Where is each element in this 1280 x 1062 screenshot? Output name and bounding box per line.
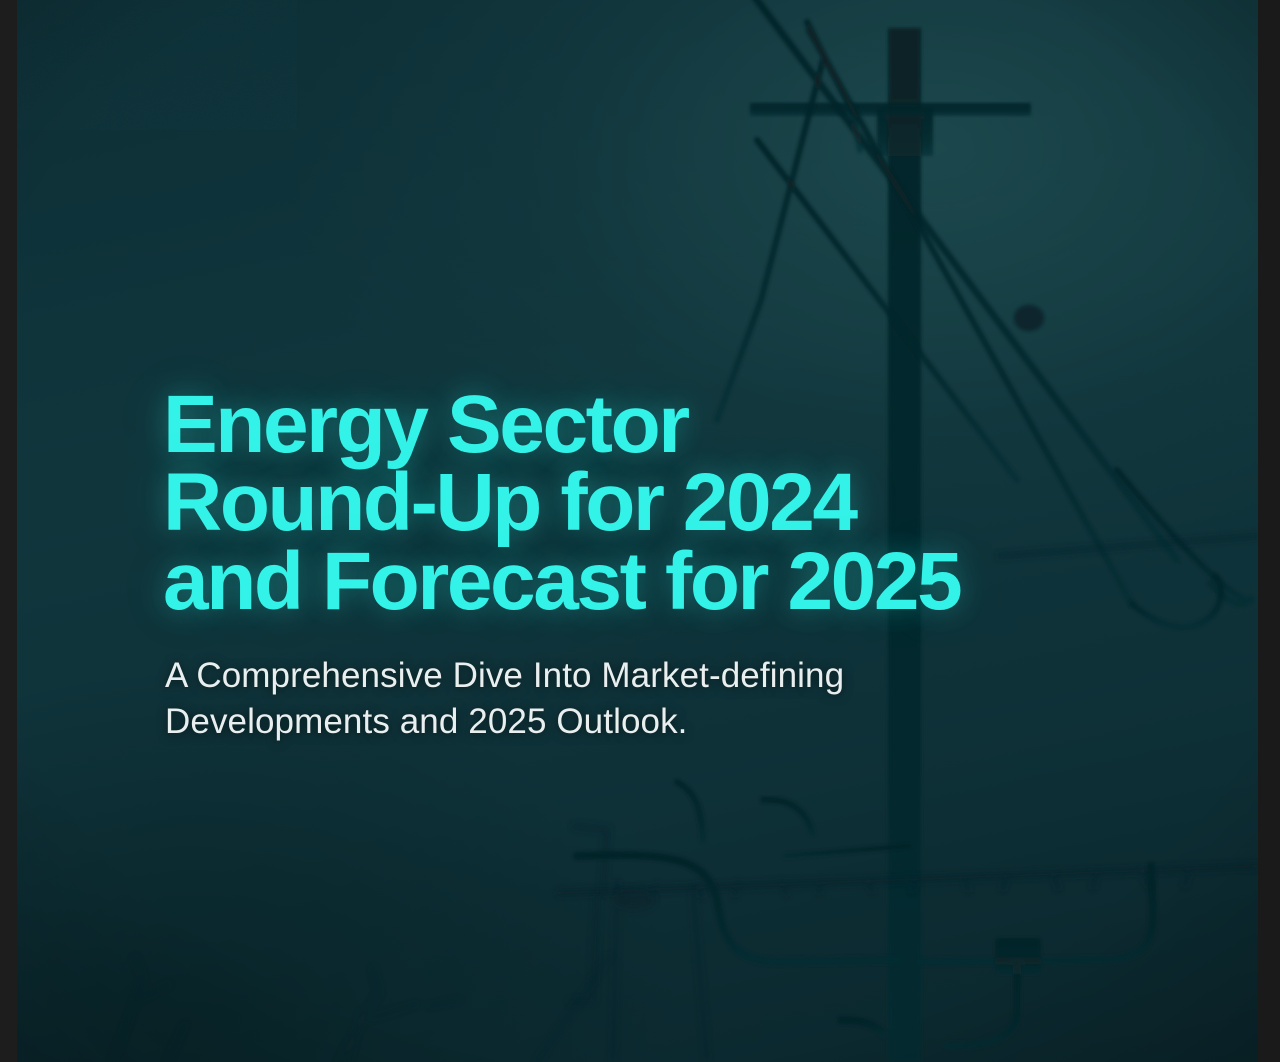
twig-b-branch2 bbox=[429, 1000, 459, 1006]
crossarm-bracket bbox=[877, 108, 933, 156]
twig-c bbox=[349, 1012, 361, 1062]
twig-a bbox=[113, 958, 143, 1062]
guy-wire-left-strut bbox=[717, 60, 823, 420]
pole-top bbox=[891, 28, 918, 148]
fence-post-b bbox=[693, 890, 707, 1062]
twig-a-branch bbox=[139, 984, 169, 1000]
subhead-line-1: A Comprehensive Dive Into Market-definin… bbox=[165, 653, 1123, 700]
shrub-twigs bbox=[113, 956, 609, 1062]
twig-d bbox=[537, 956, 609, 1062]
service-drop-left bbox=[577, 855, 897, 962]
fence-post-a bbox=[613, 880, 617, 1062]
twig-b-branch bbox=[373, 1004, 417, 1018]
fence-bracket-bottom bbox=[569, 896, 597, 1002]
service-drop-right bbox=[921, 866, 1153, 962]
junction-box bbox=[995, 938, 1041, 974]
twig-b bbox=[339, 968, 379, 1062]
barbed-strand-main bbox=[557, 866, 1258, 893]
service-drop-cross bbox=[785, 846, 909, 856]
fence-bracket-top bbox=[573, 826, 607, 896]
subhead-line-2: Developments and 2025 Outlook. bbox=[165, 699, 1123, 746]
insulator-icon bbox=[1014, 305, 1044, 331]
service-drop-riser bbox=[677, 782, 703, 840]
title-text-block: Energy Sector Round-Up for 2024 and Fore… bbox=[163, 386, 1123, 746]
letterbox-left bbox=[0, 0, 17, 1062]
cable-loop-upper bbox=[1117, 470, 1251, 604]
headline-line-1: Energy Sector bbox=[163, 386, 1123, 464]
title-slide: Energy Sector Round-Up for 2024 and Fore… bbox=[0, 0, 1280, 1062]
letterbox-right bbox=[1258, 0, 1280, 1062]
guy-wire-upper-hook bbox=[807, 22, 860, 150]
page-title: Energy Sector Round-Up for 2024 and Fore… bbox=[163, 386, 1123, 621]
aerial-line-left bbox=[761, 800, 813, 836]
fence-clamp bbox=[611, 889, 655, 911]
headline-line-3: and Forecast for 2025 bbox=[163, 543, 1123, 621]
page-subtitle: A Comprehensive Dive Into Market-definin… bbox=[165, 653, 1123, 746]
cable-loop-upper-b bbox=[1132, 576, 1221, 627]
pole-step-bolt bbox=[841, 1020, 883, 1034]
fence-posts bbox=[569, 826, 707, 1062]
twig-e bbox=[167, 1024, 185, 1062]
headline-line-2: Round-Up for 2024 bbox=[163, 464, 1123, 542]
service-drops bbox=[577, 782, 1153, 1046]
film-grain bbox=[17, 0, 297, 130]
service-drop-riser-right bbox=[947, 962, 1017, 1046]
crossarm bbox=[750, 103, 1031, 116]
